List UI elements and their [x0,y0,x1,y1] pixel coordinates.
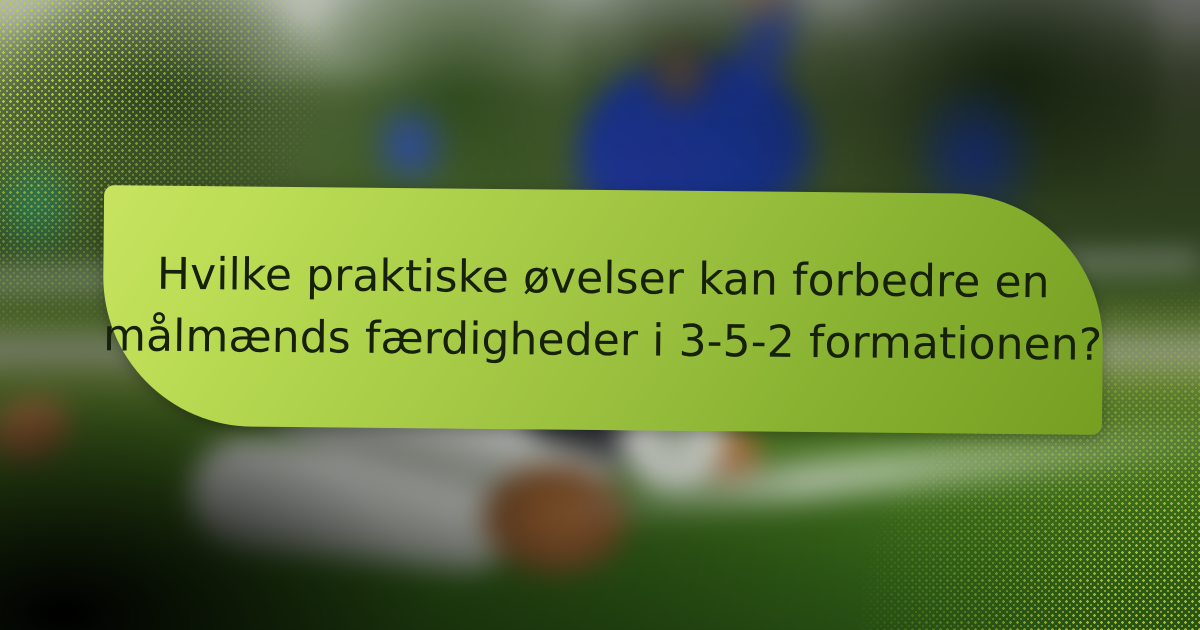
headline-line-2: målmænds færdigheder i 3-5-2 formationen… [103,305,1103,377]
share-card: Hvilke praktiske øvelser kan forbedre en… [0,0,1200,630]
headline-text-block: Hvilke praktiske øvelser kan forbedre en… [102,185,1104,435]
headline-line-1: Hvilke praktiske øvelser kan forbedre en [157,244,1050,315]
headline-banner: Hvilke praktiske øvelser kan forbedre en… [102,185,1104,435]
